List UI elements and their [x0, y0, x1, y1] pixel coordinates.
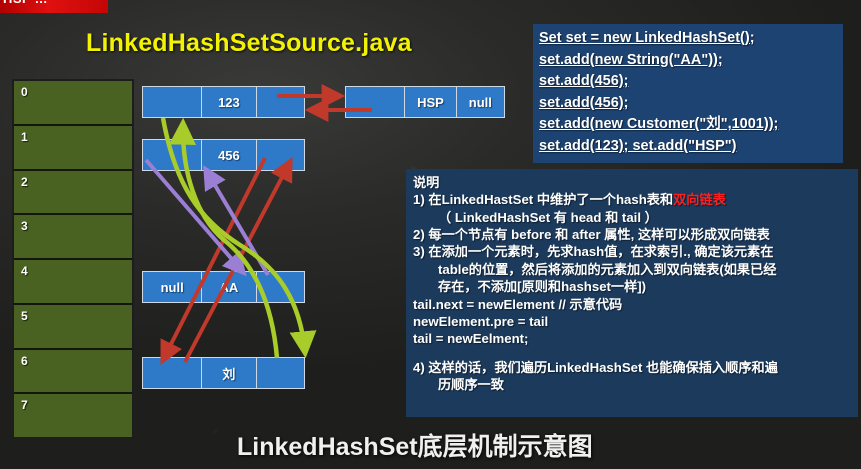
node-prev-cell — [143, 140, 202, 170]
table-slot-5: 5 — [14, 305, 132, 350]
slide-canvas: HSP ... LinkedHashSetSource.java 0 1 2 3… — [0, 0, 861, 469]
table-slot-1: 1 — [14, 126, 132, 171]
node-prev-cell — [346, 87, 405, 117]
node-next-cell — [257, 272, 304, 302]
explanation-spacer — [413, 348, 854, 359]
slot-index-label: 3 — [21, 219, 28, 233]
hash-table: 0 1 2 3 4 5 6 7 — [12, 79, 134, 439]
node-next-cell: null — [457, 87, 504, 117]
explanation-line: 1) 在LinkedHastSet 中维护了一个hash表和双向链表 — [413, 191, 854, 208]
explanation-line: 存在，不添加[原则和hashset一样]) — [413, 278, 854, 295]
slot-index-label: 0 — [21, 85, 28, 99]
code-line: set.add(new String("AA")); — [539, 50, 837, 72]
arrow-red-456-to-liu — [163, 158, 265, 360]
table-slot-6: 6 — [14, 350, 132, 395]
explanation-line: （ LinkedHashSet 有 head 和 tail ） — [413, 209, 854, 226]
arrow-red-liu-to-456 — [185, 162, 290, 362]
code-line: set.add(456); — [539, 93, 837, 115]
explanation-line: table的位置，然后将添加的元素加入到双向链表(如果已经 — [413, 261, 854, 278]
node-123: 123 — [142, 86, 305, 118]
node-next-cell — [257, 140, 304, 170]
node-next-cell — [257, 358, 304, 388]
node-prev-cell — [143, 358, 202, 388]
slot-index-label: 6 — [21, 354, 28, 368]
explanation-line: newElement.pre = tail — [413, 313, 854, 330]
explanation-line: tail.next = newElement // 示意代码 — [413, 296, 854, 313]
code-line: set.add(123); set.add("HSP") — [539, 136, 837, 158]
explanation-line: tail = newEelment; — [413, 330, 854, 347]
slot-index-label: 4 — [21, 264, 28, 278]
table-slot-4: 4 — [14, 260, 132, 305]
code-panel: Set set = new LinkedHashSet(); set.add(n… — [533, 24, 843, 163]
slot-index-label: 7 — [21, 398, 28, 412]
node-prev-cell — [143, 87, 202, 117]
explanation-heading: 说明 — [413, 174, 854, 191]
node-liu: 刘 — [142, 357, 305, 389]
node-prev-cell: null — [143, 272, 202, 302]
node-value-cell: HSP — [405, 87, 456, 117]
table-slot-3: 3 — [14, 215, 132, 260]
explanation-line: 2) 每一个节点有 before 和 after 属性, 这样可以形成双向链表 — [413, 226, 854, 243]
explanation-line-text: 1) 在LinkedHastSet 中维护了一个hash表和 — [413, 192, 673, 207]
node-next-cell — [257, 87, 304, 117]
explanation-panel: 说明 1) 在LinkedHastSet 中维护了一个hash表和双向链表 （ … — [406, 169, 858, 417]
explanation-line-highlight: 双向链表 — [673, 192, 726, 207]
arrow-purple-456-to-aa — [146, 160, 243, 272]
node-456: 456 — [142, 139, 305, 171]
page-title: LinkedHashSetSource.java — [86, 29, 412, 58]
node-value-cell: 刘 — [202, 358, 256, 388]
code-line: set.add(456); — [539, 71, 837, 93]
slot-index-label: 1 — [21, 130, 28, 144]
explanation-line: 历顺序一致 — [413, 376, 854, 393]
slot-index-label: 2 — [21, 175, 28, 189]
node-value-cell: 123 — [202, 87, 256, 117]
arrow-purple-aa-to-456 — [206, 170, 268, 275]
node-value-cell: AA — [202, 272, 256, 302]
table-slot-0: 0 — [14, 81, 132, 126]
code-line: Set set = new LinkedHashSet(); — [539, 28, 837, 50]
node-value-cell: 456 — [202, 140, 256, 170]
node-hsp: HSP null — [345, 86, 505, 118]
table-slot-7: 7 — [14, 394, 132, 437]
explanation-line: 4) 这样的话，我们遍历LinkedHashSet 也能确保插入顺序和遍 — [413, 359, 854, 376]
slot-index-label: 5 — [21, 309, 28, 323]
top-red-banner-label: HSP ... — [3, 0, 47, 6]
table-slot-2: 2 — [14, 171, 132, 216]
top-red-banner: HSP ... — [0, 0, 108, 13]
node-aa: null AA — [142, 271, 305, 303]
explanation-line: 3) 在添加一个元素时，先求hash值，在求索引., 确定该元素在 — [413, 243, 854, 260]
code-line: set.add(new Customer("刘",1001)); — [539, 114, 837, 136]
diagram-caption: LinkedHashSet底层机制示意图 — [237, 427, 593, 463]
